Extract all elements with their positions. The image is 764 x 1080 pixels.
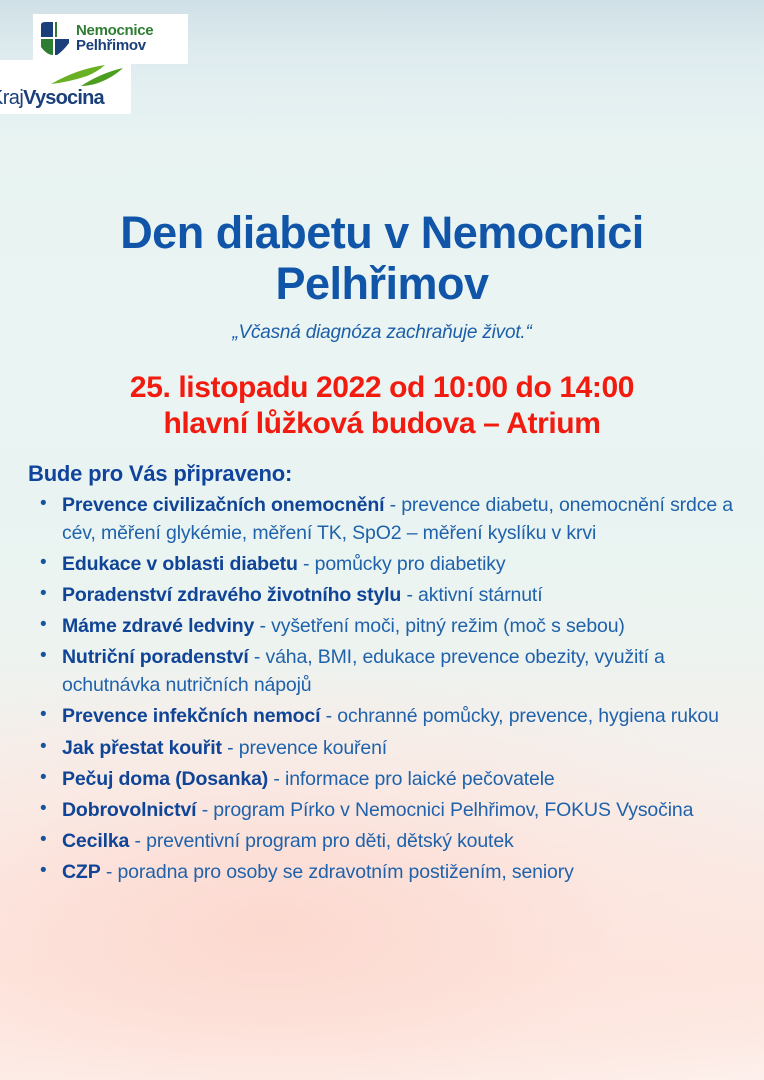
event-datetime-location: 25. listopadu 2022 od 10:00 do 14:00 hla… [0, 344, 764, 443]
list-item-title: Cecilka [62, 830, 129, 852]
list-item: Cecilka - preventivní program pro děti, … [62, 827, 748, 855]
list-item-title: Prevence civilizačních onemocnění [62, 494, 384, 516]
list-item-desc: - aktivní stárnutí [401, 584, 542, 606]
list-item: Poradenství zdravého životního stylu - a… [62, 581, 748, 609]
nemocnice-cross-icon [39, 21, 73, 57]
list-item-title: Prevence infekčních nemocí [62, 705, 320, 727]
list-item: Máme zdravé ledviny - vyšetření moči, pi… [62, 612, 748, 640]
list-item-title: Pečuj doma (Dosanka) [62, 768, 268, 790]
list-item-title: Dobrovolnictví [62, 799, 196, 821]
subtitle-quote: „Včasná diagnóza zachraňuje život.“ [0, 310, 764, 344]
list-item: Nutriční poradenství - váha, BMI, edukac… [62, 643, 748, 699]
list-item-title: Edukace v oblasti diabetu [62, 553, 298, 575]
list-item-desc: - preventivní program pro děti, dětský k… [129, 830, 513, 852]
list-item: Dobrovolnictví - program Pírko v Nemocni… [62, 796, 748, 824]
list-item-title: CZP [62, 861, 101, 883]
list-item-desc: - poradna pro osoby se zdravotním postiž… [101, 861, 574, 883]
list-item: Pečuj doma (Dosanka) - informace pro lai… [62, 765, 748, 793]
list-item-title: Máme zdravé ledviny [62, 615, 254, 637]
list-item-desc: - informace pro laické pečovatele [268, 768, 554, 790]
list-item: Prevence civilizačních onemocnění - prev… [62, 491, 748, 547]
nemocnice-logo-line2: Pelhřimov [76, 39, 153, 54]
event-location-line: hlavní lůžková budova – Atrium [0, 406, 764, 443]
kraj-vysocina-hills-icon [47, 63, 125, 87]
list-item-title: Nutriční poradenství [62, 646, 249, 668]
list-item-title: Poradenství zdravého životního stylu [62, 584, 401, 606]
event-date-line: 25. listopadu 2022 od 10:00 do 14:00 [0, 370, 764, 407]
poster-canvas: Nemocnice Pelhřimov KrajVysocina Den dia… [0, 0, 764, 1080]
program-list: Prevence civilizačních onemocnění - prev… [0, 491, 764, 886]
nemocnice-logo-words: Nemocnice Pelhřimov [76, 24, 153, 53]
list-item: CZP - poradna pro osoby se zdravotním po… [62, 858, 748, 886]
list-item-desc: - prevence kouření [222, 737, 387, 759]
list-item-desc: - vyšetření moči, pitný režim (moč s seb… [254, 615, 625, 637]
list-item-desc: - program Pírko v Nemocnici Pelhřimov, F… [196, 799, 693, 821]
nemocnice-pelhrimov-logo: Nemocnice Pelhřimov [33, 14, 188, 64]
list-item-desc: - ochranné pomůcky, prevence, hygiena ru… [320, 705, 718, 727]
program-lead-text: Bude pro Vás připraveno: [0, 443, 764, 487]
list-item-title: Jak přestat kouřit [62, 737, 222, 759]
list-item: Prevence infekčních nemocí - ochranné po… [62, 702, 748, 730]
list-item: Jak přestat kouřit - prevence kouření [62, 734, 748, 762]
list-item-desc: - pomůcky pro diabetiky [298, 553, 506, 575]
list-item: Edukace v oblasti diabetu - pomůcky pro … [62, 550, 748, 578]
page-title: Den diabetu v Nemocnici Pelhřimov [0, 104, 764, 310]
